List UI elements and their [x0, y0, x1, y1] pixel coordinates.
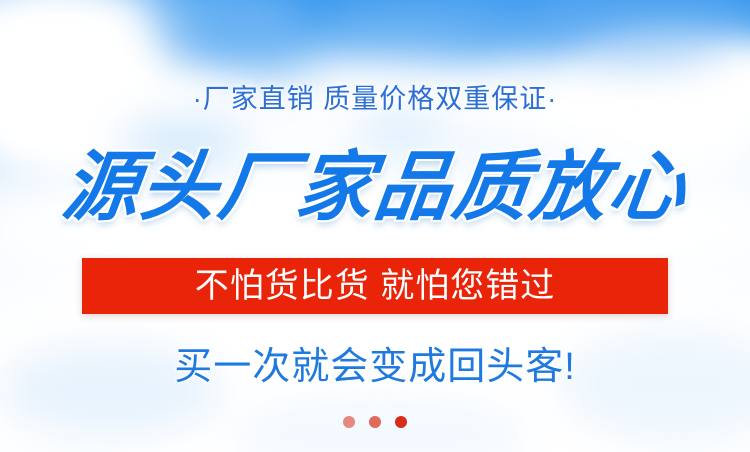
banner-headline: 源头厂家品质放心 [0, 148, 750, 228]
banner-tagline: 买一次就会变成回头客! [0, 345, 750, 389]
banner-subtitle: ·厂家直销 质量价格双重保证· [0, 82, 750, 116]
dot-3-icon [395, 416, 407, 428]
red-bar-text: 不怕货比货 就怕您错过 [195, 267, 555, 305]
dot-2-icon [369, 416, 381, 428]
decorative-dots [0, 416, 750, 428]
dot-1-icon [343, 416, 355, 428]
red-highlight-bar: 不怕货比货 就怕您错过 [82, 258, 668, 314]
promo-banner: ·厂家直销 质量价格双重保证· 源头厂家品质放心 不怕货比货 就怕您错过 买一次… [0, 0, 750, 452]
banner-content: ·厂家直销 质量价格双重保证· 源头厂家品质放心 不怕货比货 就怕您错过 买一次… [0, 0, 750, 452]
